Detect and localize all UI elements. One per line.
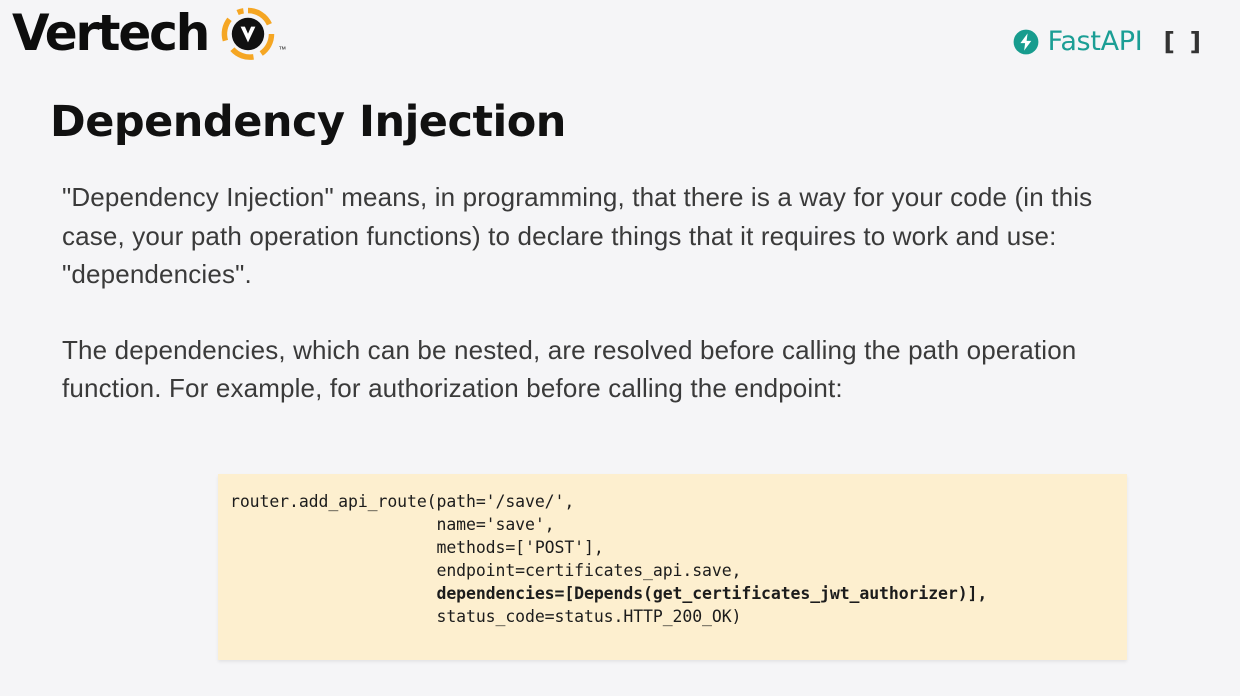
code-line: name='save', bbox=[230, 513, 1127, 536]
fastapi-brackets: [ ] bbox=[1163, 29, 1204, 54]
slide-body-text: "Dependency Injection" means, in program… bbox=[62, 178, 1152, 408]
body-paragraph-1: "Dependency Injection" means, in program… bbox=[62, 178, 1152, 294]
vertech-v-circle-icon bbox=[220, 6, 276, 62]
slide-header: Vertech ™ bbox=[0, 0, 1240, 78]
code-line: status_code=status.HTTP_200_OK) bbox=[230, 605, 1127, 628]
code-line: methods=['POST'], bbox=[230, 536, 1127, 559]
page-title: Dependency Injection bbox=[50, 99, 566, 145]
code-line: router.add_api_route(path='/save/', bbox=[230, 490, 1127, 513]
body-paragraph-2: The dependencies, which can be nested, a… bbox=[62, 331, 1152, 408]
fastapi-logo: FastAPI [ ] bbox=[1013, 28, 1204, 55]
slide-canvas: Vertech ™ bbox=[0, 0, 1240, 696]
vertech-wordmark: Vertech bbox=[12, 8, 208, 58]
fastapi-label: FastAPI bbox=[1048, 28, 1143, 55]
code-lines: router.add_api_route(path='/save/', name… bbox=[230, 490, 1127, 628]
fastapi-lightning-bolt-icon bbox=[1013, 29, 1039, 55]
code-line: endpoint=certificates_api.save, bbox=[230, 559, 1127, 582]
code-block: router.add_api_route(path='/save/', name… bbox=[218, 474, 1127, 660]
code-line: dependencies=[Depends(get_certificates_j… bbox=[230, 582, 1127, 605]
code-block-content: router.add_api_route(path='/save/', name… bbox=[230, 490, 1127, 628]
vertech-trademark: ™ bbox=[278, 45, 286, 54]
vertech-brand-logo: Vertech ™ bbox=[12, 4, 286, 62]
